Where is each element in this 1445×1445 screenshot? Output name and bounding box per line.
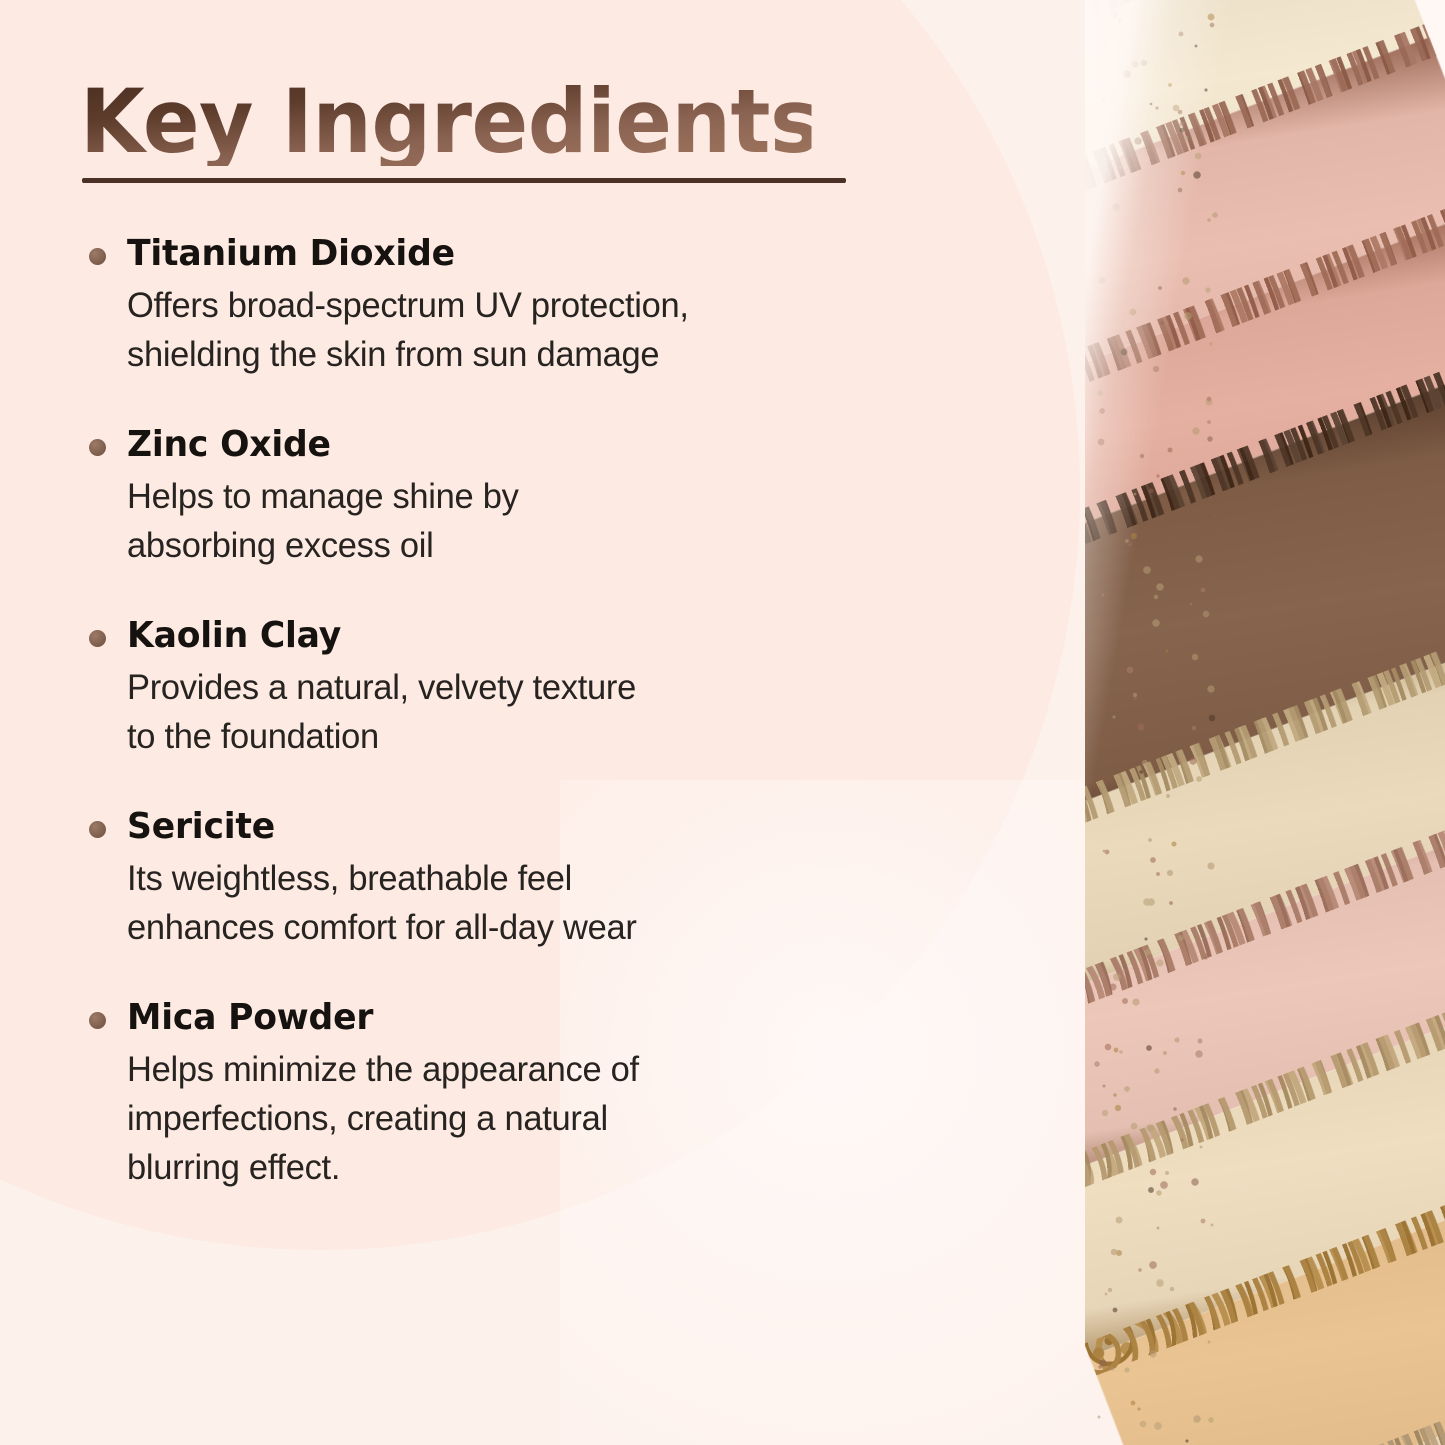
bullet-icon [89, 821, 106, 838]
ingredient-name: Kaolin Clay [127, 614, 927, 658]
ingredient-item: Zinc OxideHelps to manage shine by absor… [80, 423, 960, 570]
ingredient-name: Mica Powder [127, 996, 927, 1040]
title-underline [82, 178, 846, 183]
ingredient-description: Its weightless, breathable feel enhances… [127, 854, 948, 952]
ingredient-item: Titanium DioxideOffers broad-spectrum UV… [80, 232, 960, 379]
bullet-icon [89, 630, 106, 647]
key-ingredients-infographic: Key Ingredients Titanium DioxideOffers b… [0, 0, 1445, 1445]
ingredient-name: Sericite [127, 805, 927, 849]
bullet-icon [89, 1012, 106, 1029]
ingredients-list: Titanium DioxideOffers broad-spectrum UV… [80, 232, 960, 1192]
ingredient-description: Provides a natural, velvety texture to t… [127, 663, 948, 761]
ingredient-item: Mica PowderHelps minimize the appearance… [80, 996, 960, 1192]
bullet-icon [89, 248, 106, 265]
ingredient-name: Zinc Oxide [127, 423, 927, 467]
ingredient-name: Titanium Dioxide [127, 232, 927, 276]
page-title: Key Ingredients [80, 78, 812, 166]
ingredient-description: Helps minimize the appearance of imperfe… [127, 1045, 948, 1192]
ingredient-item: SericiteIts weightless, breathable feel … [80, 805, 960, 952]
powder-swatch-bands [1085, 0, 1445, 1445]
content-column: Key Ingredients Titanium DioxideOffers b… [80, 78, 960, 1192]
page-title-block: Key Ingredients [80, 78, 850, 166]
ingredient-item: Kaolin ClayProvides a natural, velvety t… [80, 614, 960, 761]
ingredient-description: Helps to manage shine by absorbing exces… [127, 472, 948, 570]
ingredient-description: Offers broad-spectrum UV protection, shi… [127, 281, 948, 379]
bullet-icon [89, 439, 106, 456]
powder-swatch-strip [1085, 0, 1445, 1445]
